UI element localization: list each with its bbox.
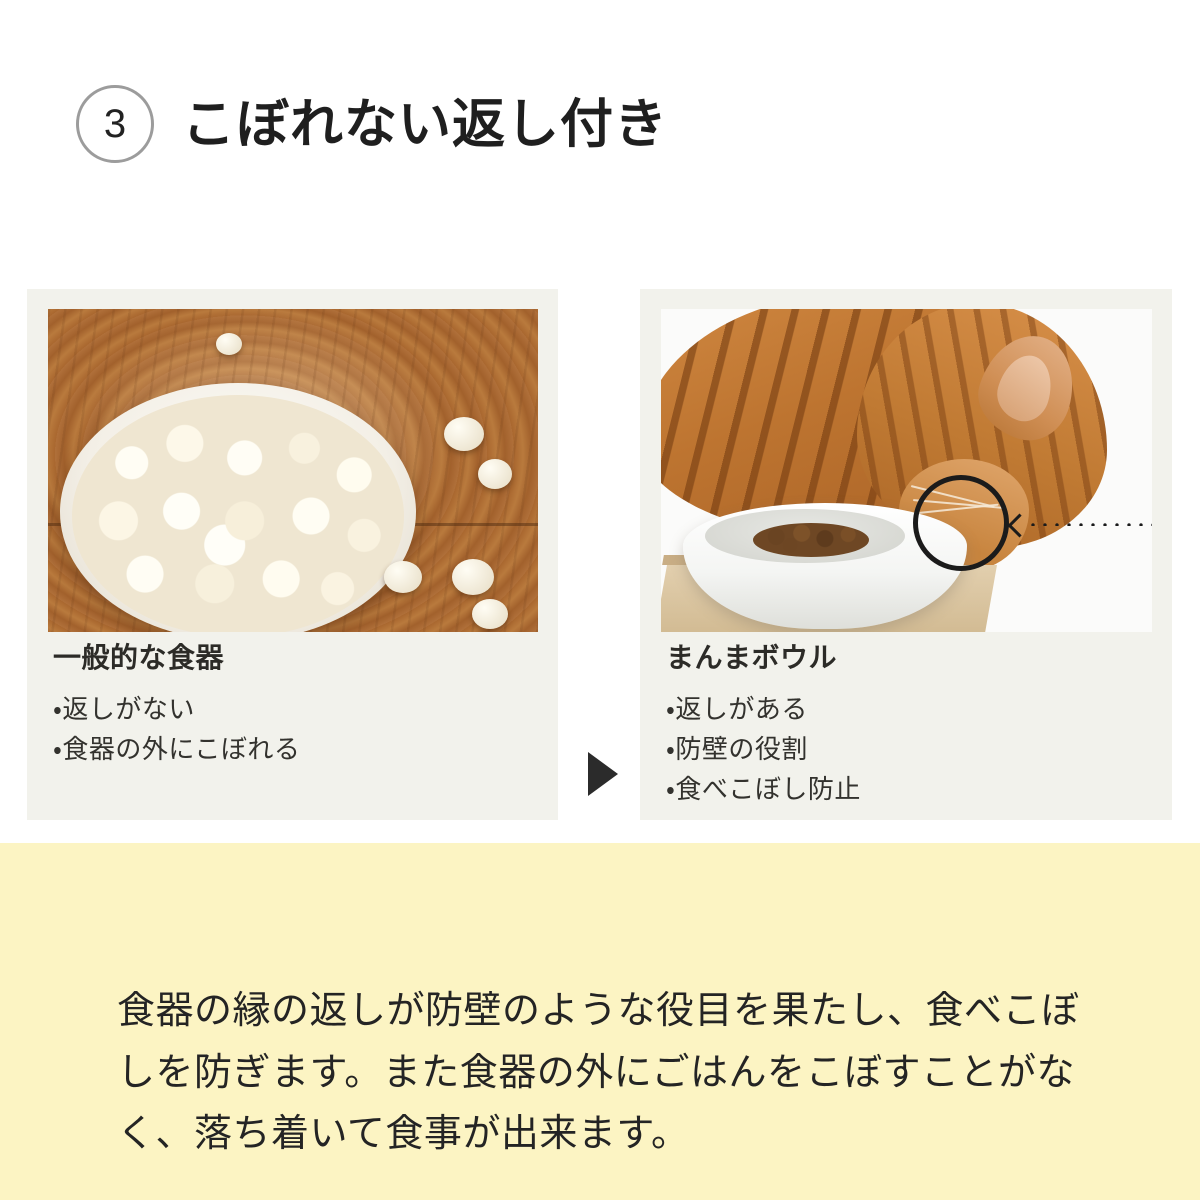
card-title: 一般的な食器 <box>53 641 540 675</box>
comparison-section: 一般的な食器 ・返しがない ・食器の外にこぼれる <box>0 289 1200 821</box>
card-caption-general-dish: 一般的な食器 ・返しがない ・食器の外にこぼれる <box>53 641 540 769</box>
page-header: 3 こぼれない返し付き <box>76 62 668 186</box>
cat-food-kibble <box>753 523 869 557</box>
card-title: まんまボウル <box>666 641 1154 675</box>
spilled-popcorn-kernel <box>452 559 494 595</box>
card-bullet: ・食器の外にこぼれる <box>53 729 540 769</box>
cat-scene-background <box>661 309 1152 632</box>
photo-popcorn-bowl <box>48 309 538 632</box>
spilled-popcorn-kernel <box>478 459 512 489</box>
white-bowl <box>60 383 416 632</box>
photo-cat-eating <box>661 309 1152 632</box>
card-bullet: ・食べこぼし防止 <box>666 769 1154 809</box>
spilled-popcorn-kernel <box>472 599 508 629</box>
card-caption-manma-bowl: まんまボウル ・返しがある ・防壁の役割 ・食べこぼし防止 <box>666 641 1154 809</box>
step-number-label: 3 <box>104 104 126 144</box>
dotted-left-arrow-icon <box>1011 513 1152 535</box>
description-text: 食器の縁の返しが防壁のような役目を果たし、食べこぼしを防ぎます。また食器の外にご… <box>117 981 1107 1166</box>
comparison-card-general-dish: 一般的な食器 ・返しがない ・食器の外にこぼれる <box>27 289 558 820</box>
card-bullet: ・防壁の役割 <box>666 729 1154 769</box>
step-number-badge: 3 <box>76 85 154 163</box>
description-band: 食器の縁の返しが防壁のような役目を果たし、食べこぼしを防ぎます。また食器の外にご… <box>0 843 1200 1200</box>
highlight-circle-icon <box>913 475 1009 571</box>
spilled-popcorn-kernel <box>216 333 242 355</box>
card-bullet: ・返しがある <box>666 689 1154 729</box>
spilled-popcorn-kernel <box>384 561 422 593</box>
triangle-right-icon <box>588 752 618 796</box>
card-bullet: ・返しがない <box>53 689 540 729</box>
comparison-card-manma-bowl: まんまボウル ・返しがある ・防壁の役割 ・食べこぼし防止 <box>640 289 1172 820</box>
page-title: こぼれない返し付き <box>182 98 668 151</box>
spilled-popcorn-kernel <box>444 417 484 451</box>
arrow-dotted-line <box>1027 523 1152 526</box>
popcorn-pile <box>72 395 404 632</box>
